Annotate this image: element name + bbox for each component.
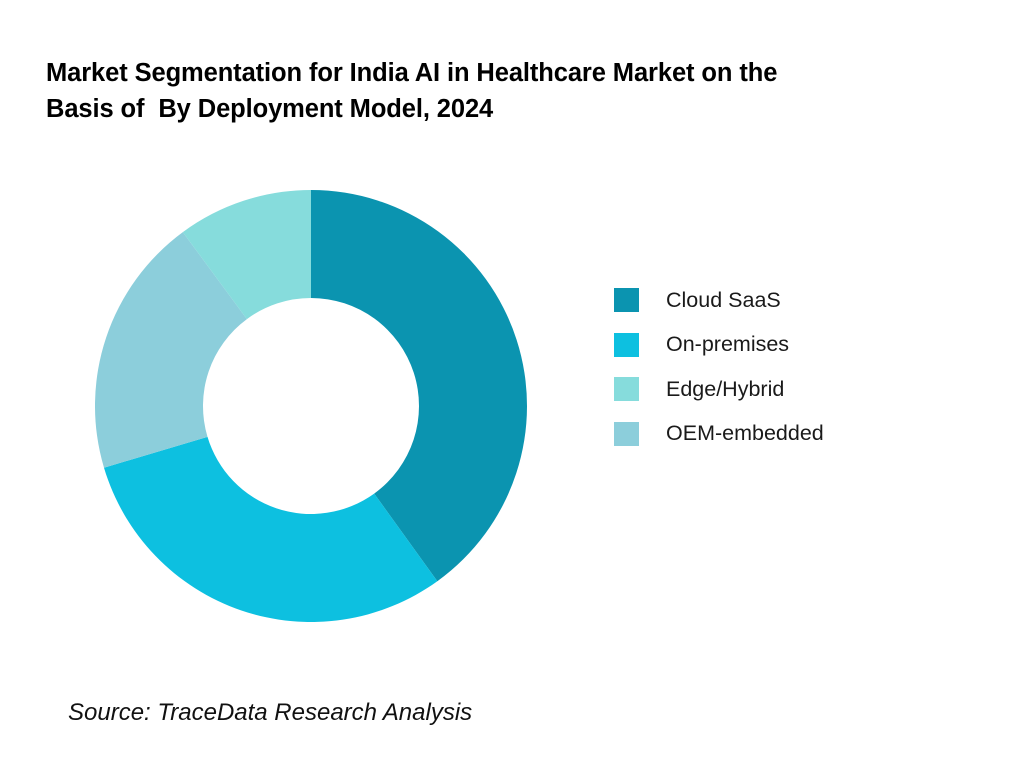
donut-slice-group xyxy=(95,190,527,622)
legend-item[interactable]: Edge/Hybrid xyxy=(614,367,954,412)
chart-legend: Cloud SaaSOn-premisesEdge/HybridOEM-embe… xyxy=(614,278,954,456)
donut-slice[interactable] xyxy=(104,437,437,622)
page-title: Market Segmentation for India AI in Heal… xyxy=(46,55,946,127)
chart-figure: Market Segmentation for India AI in Heal… xyxy=(0,0,1024,768)
legend-item[interactable]: Cloud SaaS xyxy=(614,278,954,323)
legend-item[interactable]: OEM-embedded xyxy=(614,412,954,457)
legend-swatch-icon xyxy=(614,422,639,446)
donut-chart xyxy=(95,190,527,622)
legend-swatch-icon xyxy=(614,288,639,312)
legend-item-label: OEM-embedded xyxy=(666,423,824,445)
legend-swatch-icon xyxy=(614,333,639,357)
source-note: Source: TraceData Research Analysis xyxy=(68,699,472,727)
legend-item-label: On-premises xyxy=(666,334,789,356)
donut-chart-svg xyxy=(95,190,527,622)
legend-item[interactable]: On-premises xyxy=(614,323,954,368)
legend-item-label: Cloud SaaS xyxy=(666,290,781,312)
legend-item-label: Edge/Hybrid xyxy=(666,379,784,401)
legend-swatch-icon xyxy=(614,377,639,401)
